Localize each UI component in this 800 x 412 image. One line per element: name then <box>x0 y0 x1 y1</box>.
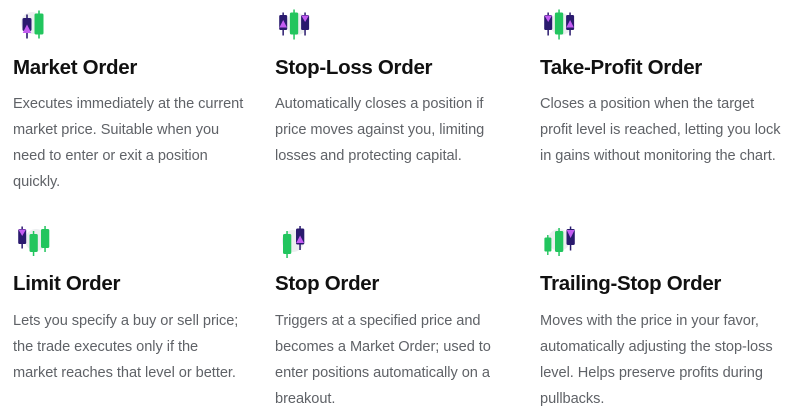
card-description: Executes immediately at the current mark… <box>13 91 246 195</box>
card-title: Stop Order <box>275 272 509 296</box>
card-title: Limit Order <box>13 272 246 296</box>
card-description: Lets you specify a buy or sell price; th… <box>13 308 246 386</box>
card-description: Triggers at a specified price and become… <box>275 308 509 412</box>
feature-card-stop-order: Stop Order Triggers at a specified price… <box>266 210 531 406</box>
feature-card-trailing-stop-order: Trailing-Stop Order Moves with the price… <box>531 210 800 406</box>
candlestick-chart-icon <box>13 222 61 264</box>
card-title: Stop-Loss Order <box>275 56 509 80</box>
card-title: Market Order <box>13 56 246 80</box>
candlestick-chart-icon <box>275 6 323 48</box>
candlestick-chart-icon <box>13 6 61 48</box>
card-title: Trailing-Stop Order <box>540 272 782 296</box>
card-title: Take-Profit Order <box>540 56 782 80</box>
candlestick-chart-icon <box>275 222 323 264</box>
card-description: Closes a position when the target profit… <box>540 91 782 169</box>
feature-card-take-profit-order: Take-Profit Order Closes a position when… <box>531 0 800 210</box>
feature-card-grid: Market Order Executes immediately at the… <box>0 0 800 406</box>
candlestick-chart-icon <box>540 6 588 48</box>
feature-card-market-order: Market Order Executes immediately at the… <box>0 0 266 210</box>
card-description: Moves with the price in your favor, auto… <box>540 308 782 412</box>
feature-card-limit-order: Limit Order Lets you specify a buy or se… <box>0 210 266 406</box>
candlestick-chart-icon <box>540 222 588 264</box>
feature-card-stop-loss-order: Stop-Loss Order Automatically closes a p… <box>266 0 531 210</box>
card-description: Automatically closes a position if price… <box>275 91 509 169</box>
